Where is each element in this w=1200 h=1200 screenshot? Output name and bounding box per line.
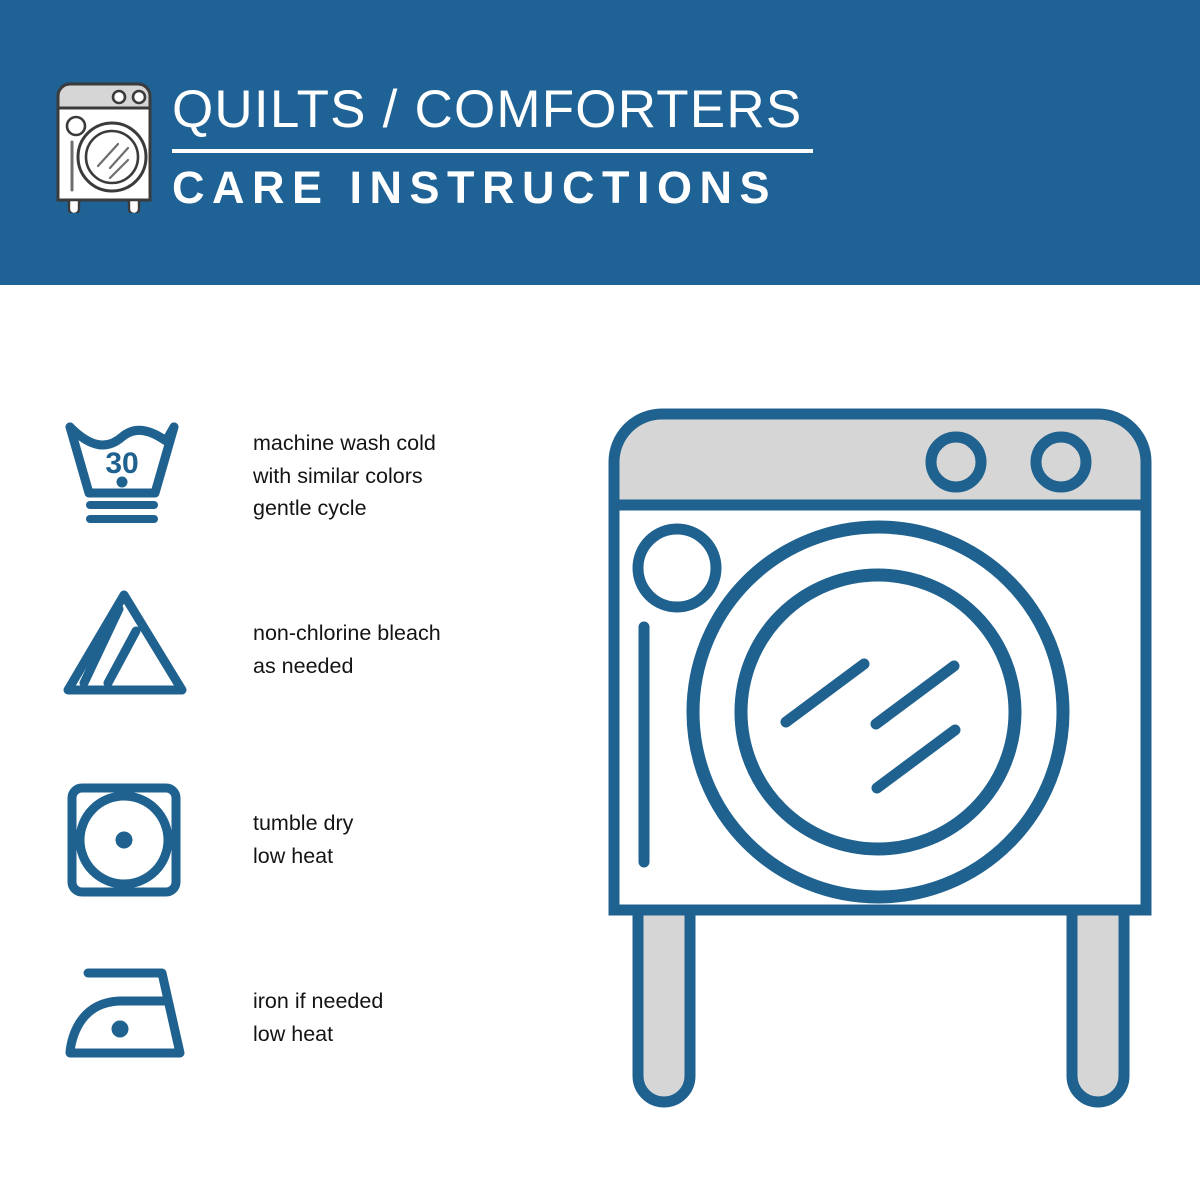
washing-machine-icon	[52, 78, 162, 213]
care-text-wash: machine wash cold with similar colors ge…	[253, 427, 436, 525]
care-text-line: tumble dry	[253, 807, 353, 840]
care-text-tumble-dry: tumble dry low heat	[253, 807, 353, 872]
page-title: QUILTS / COMFORTERS	[172, 80, 817, 140]
care-text-line: as needed	[253, 650, 441, 683]
door-inner-ring	[741, 575, 1015, 849]
title-divider	[172, 149, 813, 153]
care-text-iron: iron if needed low heat	[253, 985, 383, 1050]
iron-low-heat-icon	[62, 953, 197, 1073]
washing-machine-illustration	[600, 400, 1160, 1120]
care-text-line: low heat	[253, 1018, 383, 1051]
care-text-bleach: non-chlorine bleach as needed	[253, 617, 441, 682]
header-text-block: QUILTS / COMFORTERS CARE INSTRUCTIONS	[172, 80, 817, 214]
care-text-line: machine wash cold	[253, 427, 436, 460]
care-instructions-list: 30 machine wash cold with similar colors…	[0, 285, 560, 1200]
foot-left	[638, 910, 690, 1102]
tumble-dry-low-icon	[62, 780, 197, 900]
care-text-line: iron if needed	[253, 985, 383, 1018]
non-chlorine-bleach-triangle-icon	[62, 585, 197, 705]
page-header: QUILTS / COMFORTERS CARE INSTRUCTIONS	[0, 0, 1200, 285]
knob-right	[1036, 437, 1086, 487]
side-knob	[638, 529, 716, 607]
machine-wash-tub-icon: 30	[62, 415, 197, 535]
foot-right	[1072, 910, 1124, 1102]
care-text-line: low heat	[253, 840, 353, 873]
care-text-line: with similar colors	[253, 460, 436, 493]
wash-temperature-label: 30	[105, 447, 138, 480]
page-subtitle: CARE INSTRUCTIONS	[172, 162, 817, 214]
care-text-line: gentle cycle	[253, 492, 436, 525]
knob-left	[931, 437, 981, 487]
care-text-line: non-chlorine bleach	[253, 617, 441, 650]
